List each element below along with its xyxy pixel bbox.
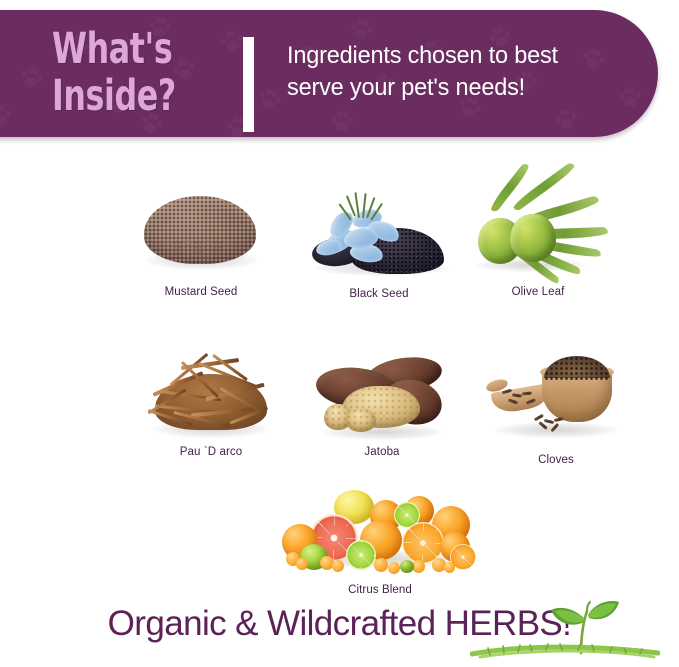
ingredient-label: Black Seed <box>349 288 408 300</box>
ingredient-citrus-blend: Citrus Blend <box>282 488 478 596</box>
mustard-seed-image <box>136 182 266 302</box>
ingredient-label: Pau `D arco <box>180 446 242 458</box>
banner-divider <box>243 37 254 132</box>
black-seed-image <box>306 186 452 304</box>
citrus-blend-image <box>282 488 478 596</box>
ingredient-label: Citrus Blend <box>348 584 412 596</box>
banner-subtitle: Ingredients chosen to best serve your pe… <box>287 40 633 104</box>
ingredient-label: Mustard Seed <box>165 286 238 298</box>
ingredient-label: Jatoba <box>364 446 399 458</box>
banner-title: What's Inside? <box>52 26 212 120</box>
ingredient-label: Cloves <box>538 454 574 466</box>
grass-line-icon <box>470 641 660 661</box>
footer: Organic & Wildcrafted HERBS! <box>0 600 679 667</box>
header-banner: What's Inside? Ingredients chosen to bes… <box>0 10 658 137</box>
ingredient-black-seed: Black Seed <box>306 186 452 304</box>
ingredient-pau-d-arco: Pau `D arco <box>145 352 277 466</box>
ingredient-mustard-seed: Mustard Seed <box>136 182 266 302</box>
ingredient-jatoba: Jatoba <box>312 350 452 468</box>
ingredient-olive-leaf: Olive Leaf <box>468 182 608 304</box>
ingredient-cloves: Cloves <box>486 348 626 474</box>
ingredient-label: Olive Leaf <box>512 286 565 298</box>
